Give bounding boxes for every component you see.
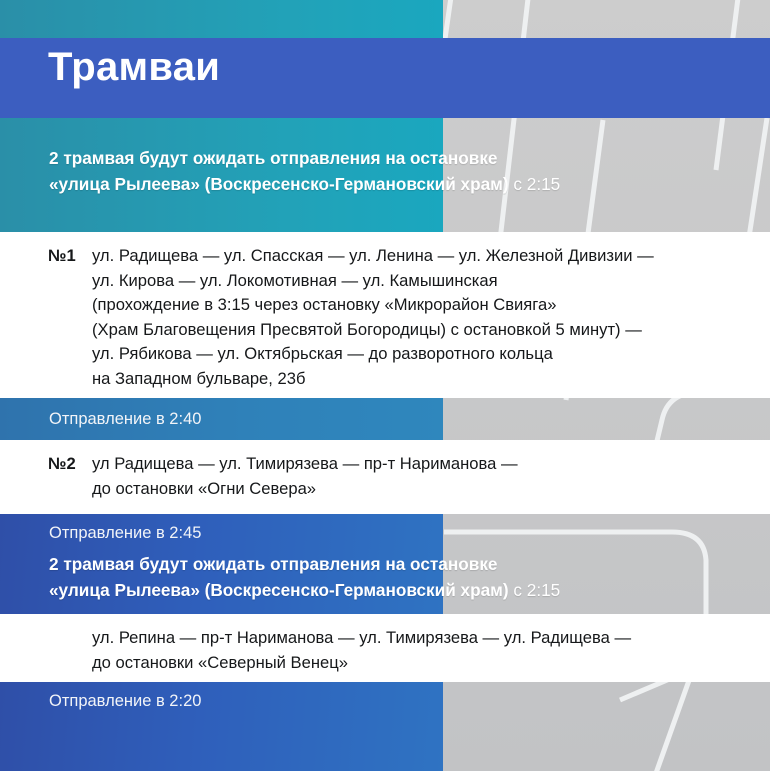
route-3: ул. Репина — пр-т Нариманова — ул. Тимир… [48,626,631,675]
route-3-body: ул. Репина — пр-т Нариманова — ул. Тимир… [92,626,631,675]
notice-top: 2 трамвая будут ожидать отправления на о… [49,145,560,197]
page-title: Трамваи [48,46,220,88]
notice-mid-line2-time: с 2:15 [509,580,561,600]
notice-top-line2-time: с 2:15 [509,174,561,194]
notice-mid-line1: 2 трамвая будут ожидать отправления на о… [49,551,560,577]
notice-mid: 2 трамвая будут ожидать отправления на о… [49,551,560,603]
route-2-body: ул Радищева — ул. Тимирязева — пр-т Нари… [92,452,518,501]
notice-top-line2-bold: «улица Рылеева» (Воскресенско-Германовск… [49,174,509,194]
route-1-line-4: (Храм Благовещения Пресвятой Богородицы)… [92,318,654,343]
route-3-line-1: ул. Репина — пр-т Нариманова — ул. Тимир… [92,626,631,651]
route-1: №1 ул. Радищева — ул. Спасская — ул. Лен… [48,244,654,392]
route-2-line-2: до остановки «Огни Севера» [92,477,518,502]
route-1-line-2: ул. Кирова — ул. Локомотивная — ул. Камы… [92,269,654,294]
notice-top-line1: 2 трамвая будут ожидать отправления на о… [49,145,560,171]
route-1-number: №1 [48,244,92,269]
route-2: №2 ул Радищева — ул. Тимирязева — пр-т Н… [48,452,518,501]
tram-schedule-poster: Трамваи 2 трамвая будут ожидать отправле… [0,0,770,771]
route-1-line-5: ул. Рябикова — ул. Октябрьская — до разв… [92,342,654,367]
notice-top-line2: «улица Рылеева» (Воскресенско-Германовск… [49,171,560,197]
route-2-line-1: ул Радищева — ул. Тимирязева — пр-т Нари… [92,452,518,477]
route-3-line-2: до остановки «Северный Венец» [92,651,631,676]
notice-mid-line2: «улица Рылеева» (Воскресенско-Германовск… [49,577,560,603]
departure-2: Отправление в 2:45 [49,522,201,544]
departure-1: Отправление в 2:40 [49,408,201,430]
route-2-number: №2 [48,452,92,477]
route-1-line-6: на Западном бульваре, 23б [92,367,654,392]
route-1-body: ул. Радищева — ул. Спасская — ул. Ленина… [92,244,654,392]
route-1-line-1: ул. Радищева — ул. Спасская — ул. Ленина… [92,244,654,269]
notice-mid-line2-bold: «улица Рылеева» (Воскресенско-Германовск… [49,580,509,600]
departure-3: Отправление в 2:20 [49,690,201,712]
route-1-line-3: (прохождение в 3:15 через остановку «Мик… [92,293,654,318]
